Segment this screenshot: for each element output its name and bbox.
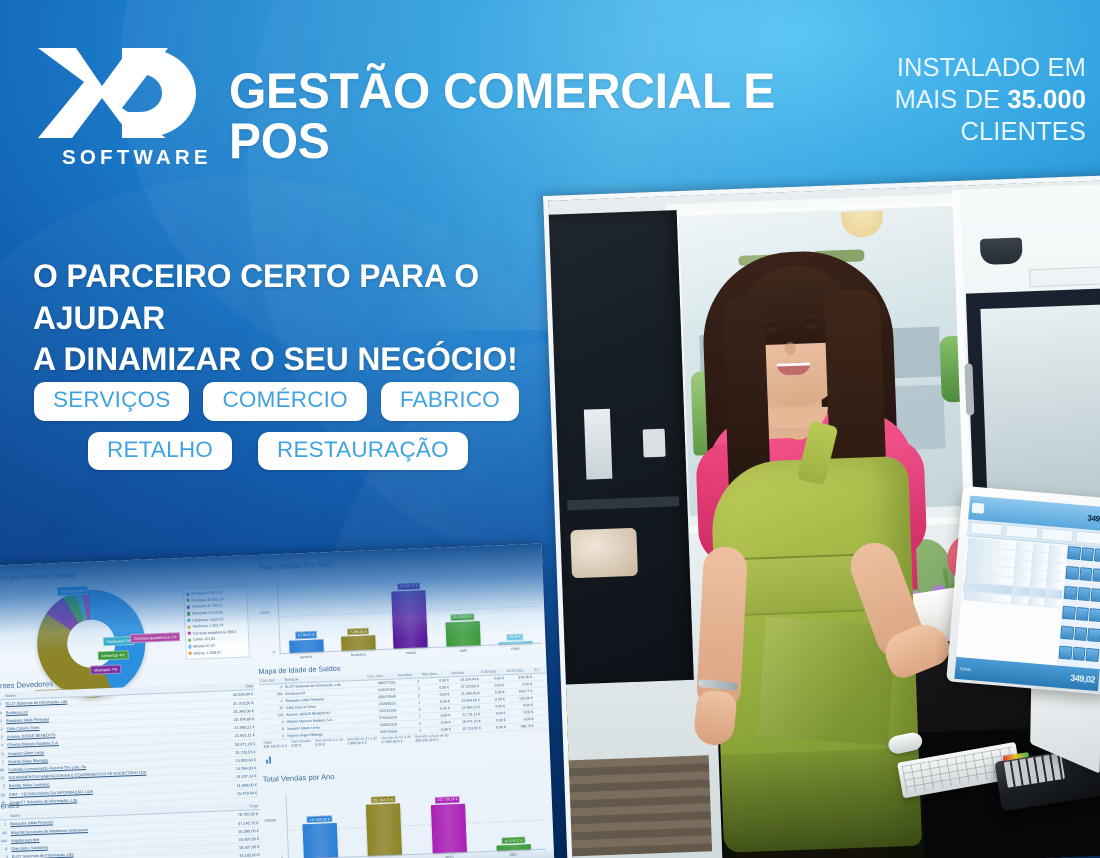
legend-color-swatch xyxy=(188,632,191,635)
legend-color-swatch xyxy=(186,599,189,602)
segment-pill-group: SERVIÇOS COMÉRCIO FABRICO RETALHO RESTAU… xyxy=(34,382,544,481)
poster-canvas: SOFTWARE GESTÃO COMERCIAL E POS INSTALAD… xyxy=(0,0,1100,858)
debtors-table-body: 3ELOT Sistemas de Informação, Lda44.534,… xyxy=(0,690,259,807)
bar-value-label: 32.528,79 € xyxy=(397,582,421,590)
donut-label-alimentar: Alimentar 4% xyxy=(98,650,129,660)
axis-tick-label: março xyxy=(394,650,428,655)
bar-group: 7.298,34 € xyxy=(339,576,376,650)
wood-floor-strip xyxy=(569,755,712,856)
legend-color-swatch xyxy=(186,592,189,595)
bar xyxy=(445,621,480,646)
xd-logo-icon xyxy=(36,42,206,147)
pill-servicos[interactable]: SERVIÇOS xyxy=(34,382,189,421)
door-sign xyxy=(1029,266,1100,287)
pos-item-list[interactable] xyxy=(956,536,1067,665)
axis-tick-label: abril xyxy=(446,648,480,653)
monthly-panel-title: Total Vendas Por Mês xyxy=(258,560,332,572)
pos-action-key[interactable] xyxy=(1094,548,1100,562)
bar xyxy=(289,639,323,653)
axis-tick-label: janeiro xyxy=(289,654,323,659)
pill-retalho[interactable]: RETALHO xyxy=(88,432,232,471)
installed-line-2: MAIS DE 35.000 xyxy=(836,84,1086,116)
installed-prefix: MAIS DE xyxy=(895,86,1008,114)
monthly-bar-series: 6.739,47 €7.298,34 €32.528,79 €10.108,25… xyxy=(278,570,542,653)
bar-value-label: 58,00 € xyxy=(507,633,524,641)
pos-action-key[interactable] xyxy=(1081,547,1095,561)
legend-label: Móveis 57,47 xyxy=(193,644,215,649)
summary-value: 1.988,50 € C xyxy=(347,741,367,746)
monthly-y-zero-tick: 0 xyxy=(273,650,275,654)
pos-footer-amount: 349,02 xyxy=(1070,673,1095,685)
pos-action-key[interactable] xyxy=(1058,646,1072,660)
pos-action-key[interactable] xyxy=(1067,546,1081,560)
legend-color-swatch xyxy=(188,625,191,628)
bar xyxy=(341,635,376,650)
legend-color-swatch xyxy=(189,652,192,655)
monthly-plot-area: 6.739,47 €7.298,34 €32.528,79 €10.108,25… xyxy=(277,570,542,654)
yearly-sales-panel: Total Vendas por Ano 200000 0 141.609,58… xyxy=(263,761,555,858)
pos-action-key[interactable] xyxy=(1064,586,1078,600)
pos-action-key[interactable] xyxy=(1077,587,1091,601)
donut-label-correios: Correios-assistencia 1% xyxy=(130,632,180,643)
legend-label: Carne 121,05 xyxy=(193,637,216,642)
pos-screen[interactable]: 349,02 xyxy=(956,495,1100,669)
pos-total-display: 349,02 xyxy=(1087,513,1100,524)
sales-by-family-panel: Vendas por Família (Global) Serviços 44%… xyxy=(0,559,258,678)
pos-footer-label: TOTAL xyxy=(959,666,972,672)
wall-switch xyxy=(643,429,666,458)
yearly-panel-title: Total Vendas por Ano xyxy=(263,772,335,784)
axis-tick-label: 2017 xyxy=(497,852,531,857)
bar-group: 141.609,58 € xyxy=(302,792,339,858)
bar-group: 243.739,18 € xyxy=(430,787,467,853)
pos-main-grid xyxy=(956,536,1100,669)
yearly-plot-area: 141.609,58 €261.964,73 €243.739,18 €10.3… xyxy=(285,784,545,858)
slogan-line-2: A DINAMIZAR O SEU NEGÓCIO! xyxy=(33,339,543,381)
mapa-idade-saldos-panel: Mapa de Idade de Saldos Cód. Ent.Entidad… xyxy=(258,655,549,741)
slogan: O PARCEIRO CERTO PARA O AJUDAR A DINAMIZ… xyxy=(33,256,543,381)
pos-touchscreen-terminal: 349,02 xyxy=(942,486,1100,750)
bar-value-label: 10.375,27 € xyxy=(501,837,525,845)
apron-shadow xyxy=(721,748,925,858)
installed-line-1: INSTALADO EM xyxy=(836,52,1086,84)
hero-photo: 349,02 xyxy=(543,175,1100,858)
bar-group: 10.108,25 € xyxy=(443,572,480,646)
summary-cell: Vencido de 0 a 300,00 € xyxy=(315,738,343,747)
bar xyxy=(497,845,531,851)
bar-value-label: 10.108,25 € xyxy=(450,613,474,621)
donut-label-vestuario: Vestuario 7% xyxy=(90,665,121,675)
axis-tick-label: fevereiro xyxy=(341,652,375,657)
door-wall-lamp xyxy=(980,237,1023,265)
pos-field-2[interactable] xyxy=(1005,525,1038,540)
row-code: 3 xyxy=(0,853,10,858)
yearly-y-top-tick: 200000 xyxy=(264,818,276,822)
bar-value-label: 7.298,34 € xyxy=(347,627,369,635)
logo-wordmark: SOFTWARE xyxy=(62,146,212,170)
legend-color-swatch xyxy=(188,639,191,642)
pos-action-key[interactable] xyxy=(1065,566,1079,580)
pos-action-key[interactable] xyxy=(1091,588,1100,602)
shop-door-glass xyxy=(980,304,1100,509)
bar xyxy=(392,590,428,648)
summary-cell: Saldo458.135,61 € C xyxy=(263,740,287,749)
pos-action-key[interactable] xyxy=(1072,647,1086,661)
summary-cell: Vencido a mais de 90429.440,28 € C xyxy=(415,733,449,742)
page-title: GESTÃO COMERCIAL E POS xyxy=(229,66,853,166)
summary-cell: Vencido de 61 a 9027.882,80 € C xyxy=(381,735,411,744)
bar-value-label: 141.609,58 € xyxy=(307,815,333,823)
donut-legend: Serviços 43.467,11Produtos 38.833,29Vest… xyxy=(183,585,250,659)
axis-tick-label: maio xyxy=(498,646,532,651)
summary-value: 458.135,61 € C xyxy=(263,744,287,749)
pos-action-key[interactable] xyxy=(1089,608,1100,622)
pos-action-key[interactable] xyxy=(1086,648,1100,662)
pos-field-3[interactable] xyxy=(1040,528,1073,543)
pos-action-key[interactable] xyxy=(1075,607,1089,621)
pill-comercio[interactable]: COMÉRCIO xyxy=(203,382,366,421)
aging-table[interactable]: Cód. Ent.EntidadeCorr. Inivo...VencidosN… xyxy=(259,666,549,741)
installed-count: 35.000 xyxy=(1007,86,1086,114)
bar-group: 10.375,27 € xyxy=(494,784,531,850)
bar-group: 6.739,47 € xyxy=(287,578,324,652)
summary-value: 0,00 € xyxy=(315,742,325,746)
pos-app-logo-icon xyxy=(972,503,985,514)
pos-action-key[interactable] xyxy=(1062,606,1076,620)
debtors-table[interactable]: Nome Total 3ELOT Sistemas de Informação,… xyxy=(0,682,259,807)
legend-color-swatch xyxy=(187,606,190,609)
wrapping-paper-roll xyxy=(570,528,638,578)
pos-action-key[interactable] xyxy=(1079,567,1093,581)
segment-row-1: SERVIÇOS COMÉRCIO FABRICO xyxy=(34,382,544,421)
slogan-line-1: O PARCEIRO CERTO PARA O AJUDAR xyxy=(33,256,543,339)
pos-action-key[interactable] xyxy=(1087,628,1100,642)
installed-line-3: CLIENTES xyxy=(836,116,1086,148)
bar xyxy=(366,804,402,856)
pos-action-key[interactable] xyxy=(1060,626,1074,640)
pill-fabrico[interactable]: FABRICO xyxy=(381,382,519,421)
second-list-table[interactable]: Nome Total 1Boaquies Isilda Pimentel78.7… xyxy=(0,802,262,858)
summary-cell: Vencido de 31 a 601.988,50 € C xyxy=(347,736,377,745)
row-total: 18.165,00 € xyxy=(203,851,262,858)
summary-cell: Não Vencido0,00 € xyxy=(291,739,311,748)
legend-color-swatch xyxy=(187,612,190,615)
bar-chart-icon xyxy=(266,756,274,763)
chalkboard-wall xyxy=(549,210,694,684)
monthly-y-top-tick: 20000 xyxy=(260,610,270,614)
donut-label-servicos: Serviços 44% xyxy=(57,586,89,596)
wall-paper-sheet xyxy=(584,409,613,480)
donut-panel-title: Vendas por Família (Global) xyxy=(0,570,77,583)
software-dashboard-screenshot: Vendas por Família (Global) Serviços 44%… xyxy=(0,544,555,858)
installed-clients-note: INSTALADO EM MAIS DE 35.000 CLIENTES xyxy=(836,52,1086,148)
summary-value: 27.882,80 € C xyxy=(381,739,403,744)
clientes-secondary-panel: Clientes Nome Total 1Boaquies Isilda Pim… xyxy=(0,791,262,858)
bar-value-label: 6.739,47 € xyxy=(295,631,317,639)
pos-action-key[interactable] xyxy=(1074,627,1088,641)
segment-row-2: RETALHO RESTAURAÇÃO xyxy=(34,432,544,471)
clientes-devedores-panel: Clientes Devedores Nome Total 3ELOT Sist… xyxy=(0,671,259,807)
pos-field-4[interactable] xyxy=(1075,531,1100,546)
pos-action-key[interactable] xyxy=(1092,568,1100,582)
bar xyxy=(303,823,338,858)
donut-legend-row: Outros -1.038,47 xyxy=(189,648,247,657)
bar xyxy=(431,804,467,853)
legend-label: Outros -1.038,47 xyxy=(193,650,221,655)
summary-value: 429.440,28 € C xyxy=(415,738,439,743)
bar-group: 261.964,73 € xyxy=(366,789,403,855)
pos-field-1[interactable] xyxy=(970,522,1003,537)
summary-value: 0,00 € xyxy=(291,743,301,747)
bar-value-label: 261.964,73 € xyxy=(370,796,396,804)
bar-value-label: 243.739,18 € xyxy=(434,796,460,804)
bar xyxy=(498,641,532,645)
yearly-bar-series: 141.609,58 €261.964,73 €243.739,18 €10.3… xyxy=(286,784,545,858)
legend-color-swatch xyxy=(187,619,190,622)
bar-group: 58,00 € xyxy=(495,570,532,644)
legend-color-swatch xyxy=(188,645,191,648)
monthly-sales-panel: Total Vendas Por Mês 20000 0 6.739,47 €7… xyxy=(258,548,546,671)
bar-group: 32.528,79 € xyxy=(391,574,428,648)
pill-restauracao[interactable]: RESTAURAÇÃO xyxy=(258,432,468,471)
legend-label: Vestuario 6.728,22 xyxy=(192,604,223,609)
xd-software-logo: SOFTWARE xyxy=(36,42,206,172)
